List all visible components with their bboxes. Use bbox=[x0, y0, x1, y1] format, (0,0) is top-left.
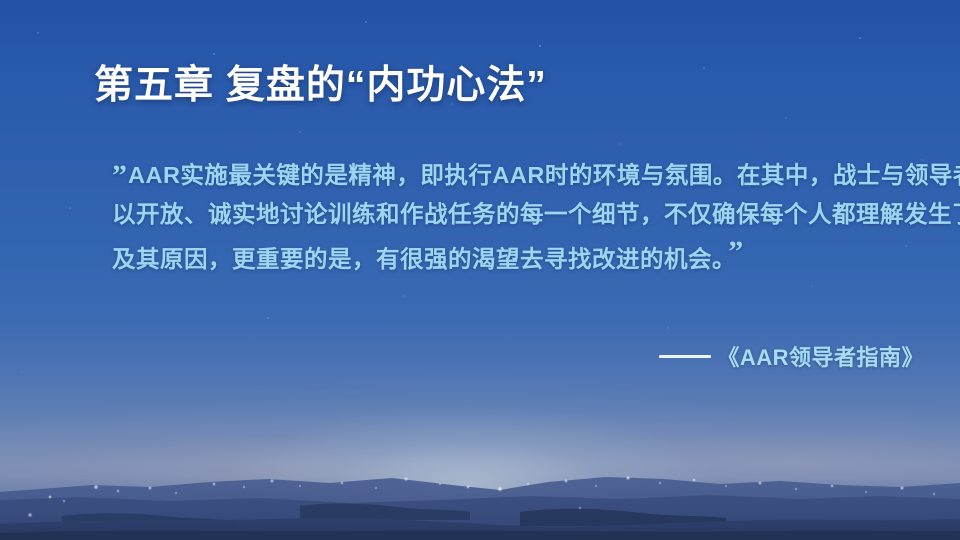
quote-open-mark: ” bbox=[112, 159, 127, 192]
attribution: 《AAR领导者指南》 bbox=[0, 340, 924, 372]
attribution-source: 《AAR领导者指南》 bbox=[717, 345, 924, 370]
quote-block: ”AAR实施最关键的是精神，即执行AAR时的环境与氛围。在其中，战士与领导者可 … bbox=[112, 156, 936, 278]
quote-line-3: 及其原因，更重要的是，有很强的渴望去寻找改进的机会。” bbox=[112, 233, 936, 278]
quote-close-mark: ” bbox=[728, 235, 743, 268]
presentation-slide: 第五章 复盘的“内功心法” ”AAR实施最关键的是精神，即执行AAR时的环境与氛… bbox=[0, 0, 960, 540]
quote-line-2: 以开放、诚实地讨论训练和作战任务的每一个细节，不仅确保每个人都理解发生了什么 bbox=[112, 195, 936, 233]
quote-line-1: ”AAR实施最关键的是精神，即执行AAR时的环境与氛围。在其中，战士与领导者可 bbox=[112, 156, 936, 195]
quote-line-3-text: 及其原因，更重要的是，有很强的渴望去寻找改进的机会。 bbox=[112, 246, 724, 272]
quote-line-1-text: AAR实施最关键的是精神，即执行AAR时的环境与氛围。在其中，战士与领导者可 bbox=[128, 162, 960, 188]
quote-line-2-text: 以开放、诚实地讨论训练和作战任务的每一个细节，不仅确保每个人都理解发生了什么 bbox=[112, 201, 960, 227]
attribution-dash-icon bbox=[659, 355, 711, 358]
page-title: 第五章 复盘的“内功心法” bbox=[94, 54, 547, 110]
